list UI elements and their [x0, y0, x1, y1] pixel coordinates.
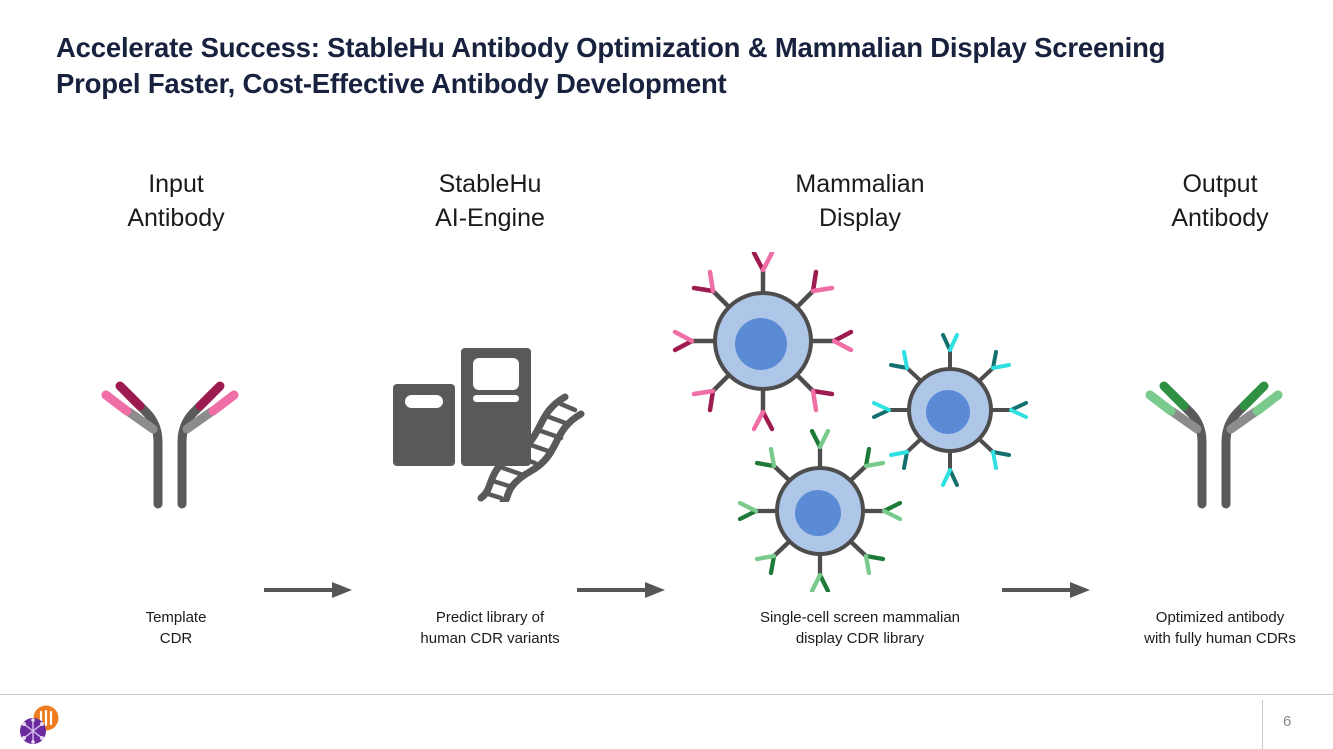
arrow-display-to-output: [1000, 578, 1092, 607]
workflow-step-stablehu-ai-engine: StableHu AI-Engine: [370, 168, 610, 688]
company-logo-icon: [16, 704, 64, 746]
slide-root: Accelerate Success: StableHu Antibody Op…: [0, 0, 1333, 749]
arrow-engine-to-display: [575, 578, 667, 607]
step-caption-line-2: display CDR library: [660, 628, 1060, 649]
arrow-right-icon: [262, 578, 354, 602]
step-caption-line-2: with fully human CDRs: [1100, 628, 1333, 649]
step-caption: Optimized antibody with fully human CDRs: [1100, 607, 1333, 650]
workflow-step-input-antibody: Input Antibody: [56, 168, 296, 688]
step-caption-line-1: Single-cell screen mammalian: [660, 607, 1060, 628]
display-cells-icon: [660, 252, 1060, 592]
step-heading-line-2: AI-Engine: [370, 202, 610, 236]
step-caption-line-1: Predict library of: [370, 607, 610, 628]
mammalian-display-art: [660, 252, 1060, 592]
step-caption-line-1: Template: [56, 607, 296, 628]
server-dna-icon: [385, 342, 595, 502]
stablehu-engine-art: [370, 252, 610, 592]
step-heading-line-1: Mammalian: [660, 168, 1060, 202]
input-antibody-art: [56, 252, 296, 592]
step-heading: Input Antibody: [56, 168, 296, 235]
page-title: Accelerate Success: StableHu Antibody Op…: [56, 30, 1236, 102]
step-caption: Template CDR: [56, 607, 296, 650]
step-caption-line-2: human CDR variants: [370, 628, 610, 649]
step-caption-line-1: Optimized antibody: [1100, 607, 1333, 628]
step-heading: Mammalian Display: [660, 168, 1060, 235]
step-heading-line-2: Display: [660, 202, 1060, 236]
arrow-right-icon: [575, 578, 667, 602]
output-antibody-art: [1100, 252, 1333, 592]
workflow-step-mammalian-display: Mammalian Display: [660, 168, 1060, 688]
step-heading: StableHu AI-Engine: [370, 168, 610, 235]
company-logo: [16, 704, 64, 749]
step-heading-line-2: Antibody: [1100, 202, 1333, 236]
cell-green-variant: [740, 431, 900, 591]
arrow-input-to-engine: [262, 578, 354, 607]
step-caption-line-2: CDR: [56, 628, 296, 649]
antibody-icon: [1140, 332, 1300, 512]
title-line-1: Accelerate Success: StableHu Antibody Op…: [56, 32, 1027, 63]
step-heading-line-1: Output: [1100, 168, 1333, 202]
step-caption: Single-cell screen mammalian display CDR…: [660, 607, 1060, 650]
workflow-step-output-antibody: Output Antibody: [1100, 168, 1333, 688]
antibody-icon: [96, 332, 256, 512]
cell-pink-variant: [675, 253, 851, 429]
step-heading-line-1: StableHu: [370, 168, 610, 202]
workflow-diagram: Input Antibody: [0, 168, 1333, 688]
step-heading-line-1: Input: [56, 168, 296, 202]
arrow-right-icon: [1000, 578, 1092, 602]
footer-divider: [0, 694, 1333, 695]
cell-cyan-variant: [874, 335, 1026, 485]
step-heading-line-2: Antibody: [56, 202, 296, 236]
step-heading: Output Antibody: [1100, 168, 1333, 235]
step-caption: Predict library of human CDR variants: [370, 607, 610, 650]
page-number: 6: [1283, 713, 1291, 730]
footer-separator: [1262, 700, 1263, 749]
